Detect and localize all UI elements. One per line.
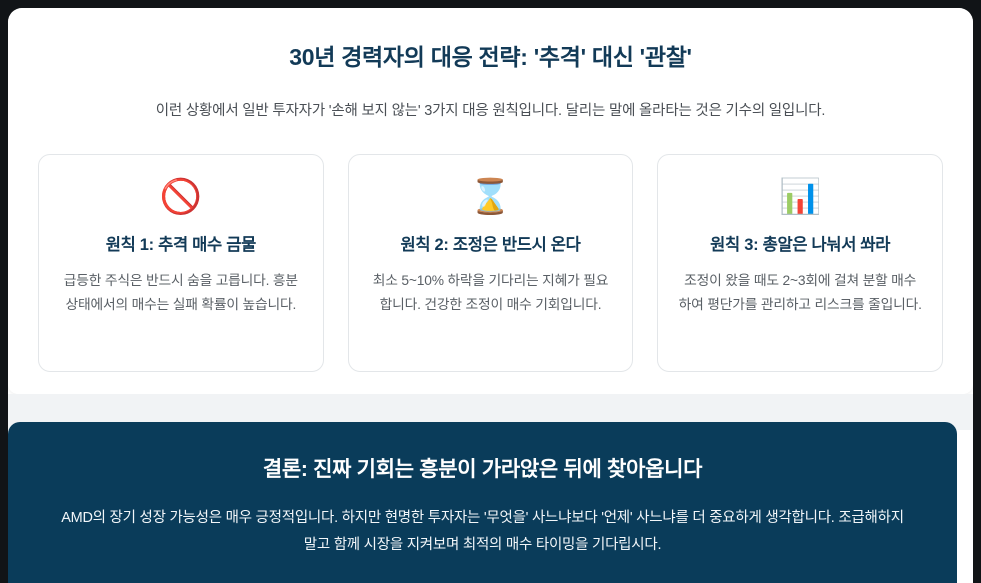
- principle-card-1-body: 급등한 주식은 반드시 숨을 고릅니다. 흥분 상태에서의 매수는 실패 확률이…: [59, 255, 303, 316]
- principle-card-3-body: 조정이 왔을 때도 2~3회에 걸쳐 분할 매수하여 평단가를 관리하고 리스크…: [678, 255, 922, 316]
- principle-card-2-body: 최소 5~10% 하락을 기다리는 지혜가 필요합니다. 건강한 조정이 매수 …: [369, 255, 613, 316]
- principle-card-3-title: 원칙 3: 총알은 나눠서 쏴라: [678, 219, 922, 255]
- conclusion-banner: 결론: 진짜 기회는 흥분이 가라앉은 뒤에 찾아옵니다 AMD의 장기 성장 …: [8, 422, 957, 583]
- principle-card-3: 📊 원칙 3: 총알은 나눠서 쏴라 조정이 왔을 때도 2~3회에 걸쳐 분할…: [657, 154, 943, 372]
- page-title: 30년 경력자의 대응 전략: '추격' 대신 '관찰': [8, 8, 973, 72]
- conclusion-title: 결론: 진짜 기회는 흥분이 가라앉은 뒤에 찾아옵니다: [56, 422, 909, 483]
- section-subtitle: 이런 상황에서 일반 투자자가 '손해 보지 않는' 3가지 대응 원칙입니다.…: [8, 72, 973, 120]
- principle-card-1: 🚫 원칙 1: 추격 매수 금물 급등한 주식은 반드시 숨을 고릅니다. 흥분…: [38, 154, 324, 372]
- page-root: 30년 경력자의 대응 전략: '추격' 대신 '관찰' 이런 상황에서 일반 …: [0, 0, 981, 583]
- hourglass-icon: ⌛: [369, 177, 613, 219]
- principle-card-list: 🚫 원칙 1: 추격 매수 금물 급등한 주식은 반드시 숨을 고릅니다. 흥분…: [8, 120, 973, 372]
- strategy-section: 30년 경력자의 대응 전략: '추격' 대신 '관찰' 이런 상황에서 일반 …: [8, 8, 973, 394]
- prohibited-icon: 🚫: [59, 177, 303, 219]
- principle-card-2: ⌛ 원칙 2: 조정은 반드시 온다 최소 5~10% 하락을 기다리는 지혜가…: [348, 154, 634, 372]
- principle-card-1-title: 원칙 1: 추격 매수 금물: [59, 219, 303, 255]
- principle-card-2-title: 원칙 2: 조정은 반드시 온다: [369, 219, 613, 255]
- bar-chart-icon: 📊: [678, 177, 922, 219]
- conclusion-body: AMD의 장기 성장 가능성은 매우 긍정적입니다. 하지만 현명한 투자자는 …: [56, 483, 909, 559]
